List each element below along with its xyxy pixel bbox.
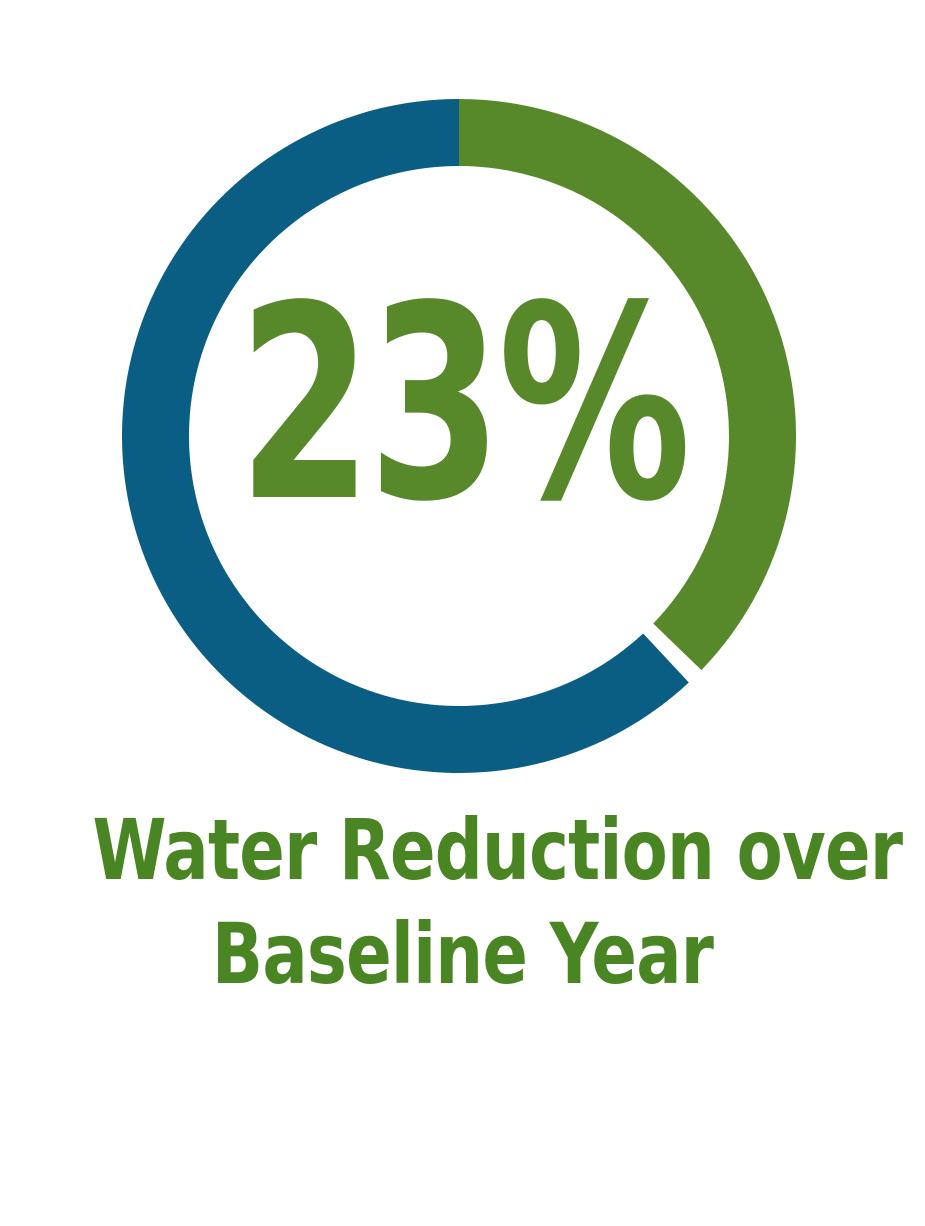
infographic-page: 23% Water Reduction over 2014 Baseline Y…: [0, 0, 925, 1226]
caption-block: Water Reduction over 2014 Baseline Year: [0, 798, 925, 1006]
caption-line-2: Baseline Year: [93, 902, 833, 1006]
caption-line-1: Water Reduction over 2014: [93, 798, 833, 902]
donut-center-value: 23%: [130, 271, 796, 539]
donut-chart: 23%: [0, 0, 925, 800]
